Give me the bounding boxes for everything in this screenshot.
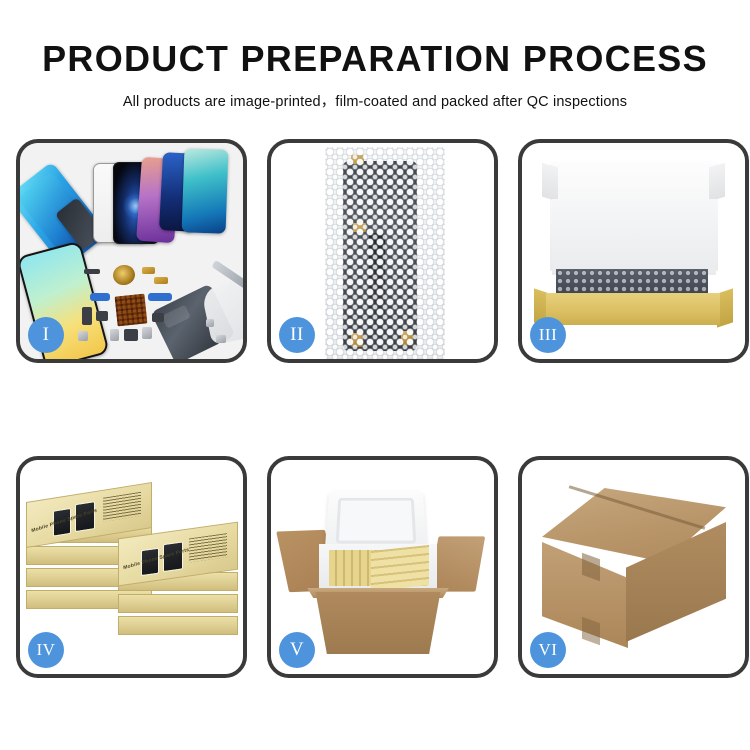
component-part xyxy=(152,313,164,322)
component-part xyxy=(206,319,214,327)
retail-box-slab xyxy=(118,594,238,613)
teal-gradient-phone-image xyxy=(182,148,229,233)
step-badge-6: VI xyxy=(530,632,566,668)
component-part xyxy=(154,277,168,284)
white-foam-liner-image xyxy=(552,199,716,275)
process-step-panel-2: II xyxy=(267,139,498,363)
component-part xyxy=(96,311,108,321)
component-part xyxy=(142,267,155,274)
foam-box-lid-image xyxy=(325,491,428,552)
component-part xyxy=(84,269,100,274)
component-part xyxy=(82,307,92,325)
page-subtitle: All products are image-printed，film-coat… xyxy=(0,90,750,111)
foam-lid-inner-rim xyxy=(336,498,417,544)
component-part xyxy=(124,329,138,341)
box-lid-right-flap xyxy=(709,163,725,202)
step-badge-3: III xyxy=(530,317,566,353)
step-badge-1: I xyxy=(28,317,64,353)
page-title: PRODUCT PREPARATION PROCESS xyxy=(0,40,750,78)
product-preparation-process-graphic: PRODUCT PREPARATION PROCESS All products… xyxy=(0,0,750,750)
process-step-panel-4: Mobile Phone Spare Parts Mobile Phone Sp… xyxy=(16,456,247,678)
carton-front-panel-image xyxy=(307,592,449,654)
step-badge-5: V xyxy=(279,632,315,668)
step-badge-2: II xyxy=(279,317,315,353)
bubble-wrap-texture xyxy=(325,147,445,359)
retail-box-slab xyxy=(118,616,238,635)
process-step-panel-3: III xyxy=(518,139,749,363)
packed-retail-boxes-image xyxy=(371,545,429,591)
header: PRODUCT PREPARATION PROCESS All products… xyxy=(0,40,750,111)
chip-array-part-icon xyxy=(115,294,148,327)
box-spec-text-lines xyxy=(189,533,227,562)
component-part xyxy=(90,293,110,301)
bubble-wrap-bag-image xyxy=(325,147,445,359)
process-step-grid: I II xyxy=(16,139,749,678)
step-badge-4: IV xyxy=(28,632,64,668)
box-lid-left-flap xyxy=(542,163,558,202)
carton-right-flap-image xyxy=(429,536,485,591)
process-step-panel-5: V xyxy=(267,456,498,678)
process-step-panel-6: VI xyxy=(518,456,749,678)
component-part xyxy=(110,329,119,341)
component-part xyxy=(216,335,226,343)
component-part xyxy=(142,327,152,339)
process-step-panel-1: I xyxy=(16,139,247,363)
yellow-box-front-panel xyxy=(546,293,720,325)
component-part xyxy=(78,331,88,341)
box-spec-text-lines xyxy=(103,492,141,522)
component-part xyxy=(148,293,172,301)
retail-box-stack-image: Mobile Phone Spare Parts Mobile Phone Sp… xyxy=(26,486,238,656)
